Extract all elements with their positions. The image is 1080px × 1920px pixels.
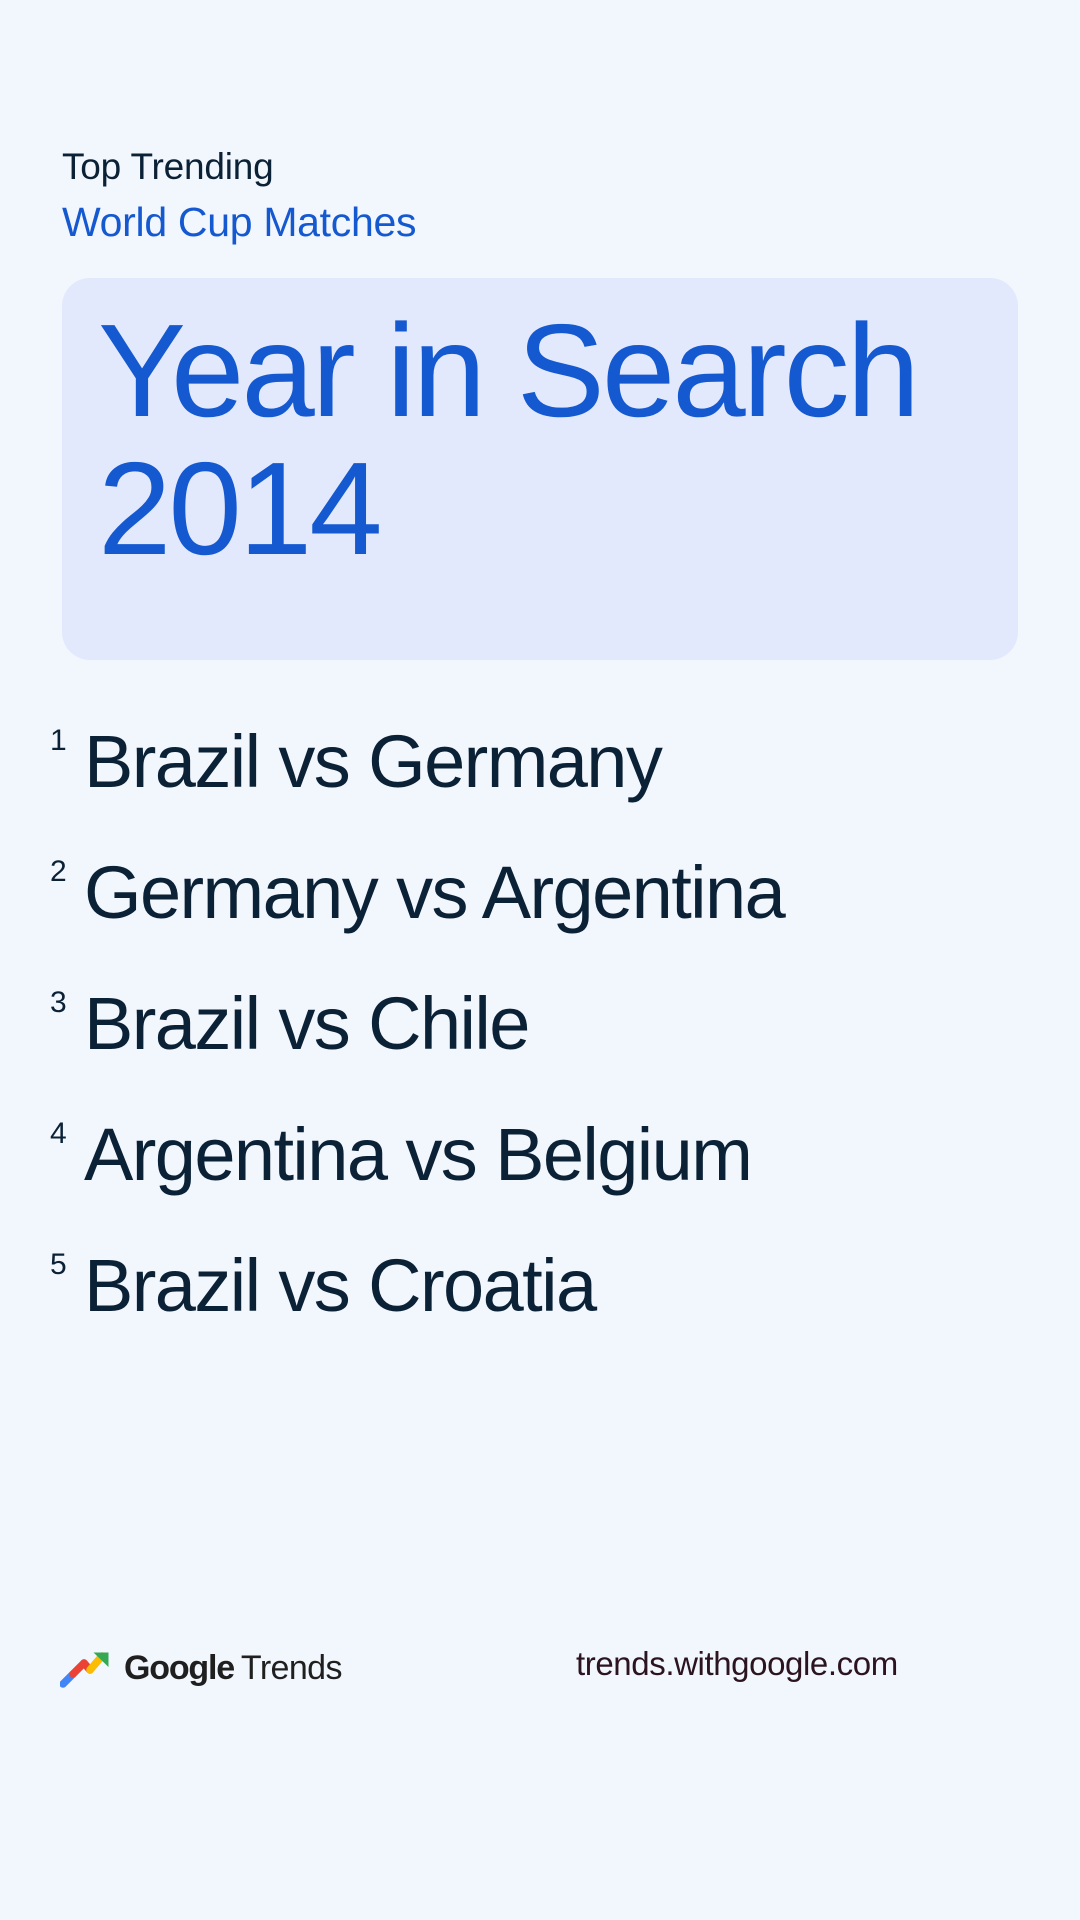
- list-item[interactable]: 3 Brazil vs Chile: [50, 974, 1050, 1105]
- brand-trends-text: Trends: [241, 1649, 342, 1687]
- footer: GoogleTrends trends.withgoogle.com: [0, 1638, 1080, 1728]
- list-item-label: Brazil vs Croatia: [84, 1236, 596, 1336]
- list-item-rank: 3: [50, 974, 84, 1018]
- poster-canvas: Top Trending World Cup Matches Year in S…: [0, 0, 1080, 1920]
- list-item-label: Brazil vs Germany: [84, 712, 661, 812]
- page-title-line-2: 2014: [98, 440, 988, 578]
- trending-list: 1 Brazil vs Germany 2 Germany vs Argenti…: [50, 712, 1050, 1367]
- trends-arrow-icon: [60, 1648, 112, 1688]
- brand-wordmark: GoogleTrends: [124, 1648, 342, 1688]
- kicker-line-category: World Cup Matches: [62, 194, 1022, 250]
- brand-google-text: Google: [124, 1649, 234, 1687]
- list-item[interactable]: 4 Argentina vs Belgium: [50, 1105, 1050, 1236]
- list-item-rank: 1: [50, 712, 84, 756]
- list-item-label: Argentina vs Belgium: [84, 1105, 751, 1205]
- page-title-line-1: Year in Search: [98, 302, 988, 440]
- hero-card: Year in Search 2014: [62, 278, 1018, 660]
- list-item-rank: 4: [50, 1105, 84, 1149]
- list-item[interactable]: 2 Germany vs Argentina: [50, 843, 1050, 974]
- list-item[interactable]: 1 Brazil vs Germany: [50, 712, 1050, 843]
- list-item[interactable]: 5 Brazil vs Croatia: [50, 1236, 1050, 1367]
- kicker-block: Top Trending World Cup Matches: [62, 140, 1022, 250]
- list-item-rank: 2: [50, 843, 84, 887]
- google-trends-logo[interactable]: GoogleTrends: [60, 1638, 342, 1698]
- list-item-label: Brazil vs Chile: [84, 974, 529, 1074]
- kicker-line-top-trending: Top Trending: [62, 140, 1022, 194]
- page-title: Year in Search 2014: [98, 302, 988, 578]
- list-item-rank: 5: [50, 1236, 84, 1280]
- list-item-label: Germany vs Argentina: [84, 843, 784, 943]
- site-url[interactable]: trends.withgoogle.com: [576, 1642, 898, 1686]
